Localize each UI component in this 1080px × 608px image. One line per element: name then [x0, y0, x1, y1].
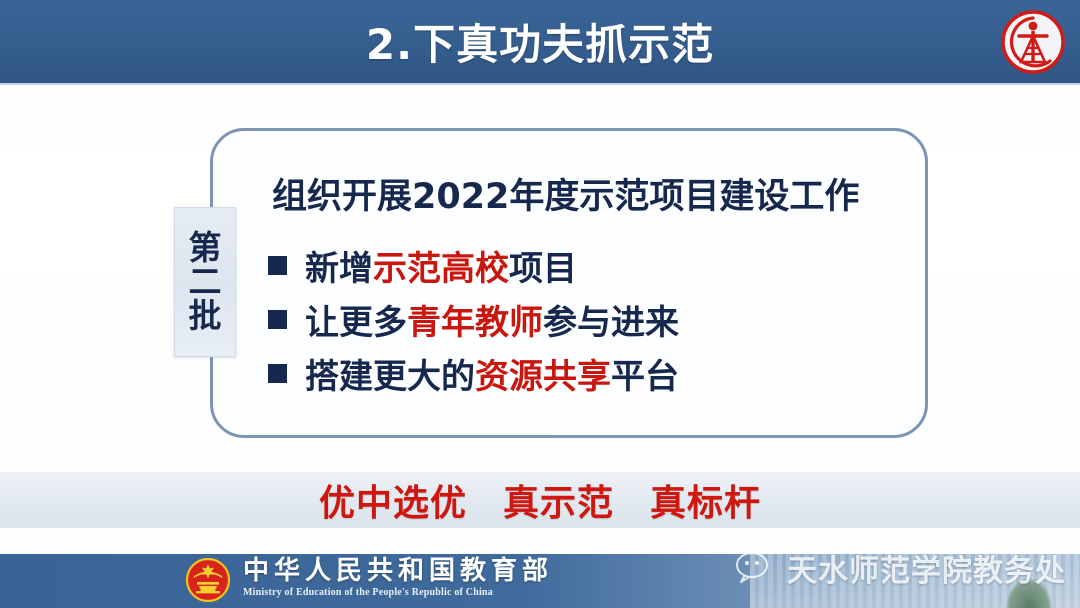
page-title: 2.下真功夫抓示范	[0, 0, 1080, 82]
square-bullet-icon	[268, 310, 287, 329]
batch-char-3: 批	[189, 299, 222, 333]
slogan-item-1: 优中选优	[319, 474, 467, 526]
bullet-highlight-3: 资源共享	[475, 357, 611, 397]
slide-header: 2.下真功夫抓示范	[0, 0, 1080, 85]
ministry-label: 中华人民共和国教育部 Ministry of Education of the …	[243, 558, 553, 598]
slogan-text-group: 优中选优 真示范 真标杆	[0, 472, 1080, 528]
red-circular-tower-logo	[1000, 9, 1066, 75]
bullet-pre-1: 新增	[305, 249, 373, 289]
presentation-slide: 2.下真功夫抓示范 第 二 批 组织开展2022年度示范项目建设工作 新增示范高…	[0, 0, 1080, 608]
batch-char-1: 第	[189, 231, 222, 265]
list-item: 新增示范高校项目	[268, 238, 908, 292]
batch-char-2: 二	[189, 265, 222, 299]
square-bullet-icon	[268, 364, 287, 383]
bullet-text-3: 搭建更大的资源共享平台	[305, 349, 679, 398]
slogan-item-2: 真示范	[503, 474, 614, 526]
wechat-icon	[736, 552, 778, 585]
ministry-name-en: Ministry of Education of the People's Re…	[243, 587, 553, 598]
watermark: 天水师范学院教务处	[736, 546, 1066, 590]
bullet-post-3: 平台	[611, 357, 679, 397]
bullet-post-1: 项目	[509, 249, 577, 289]
batch-label-tab: 第 二 批	[174, 207, 236, 357]
bullet-highlight-1: 示范高校	[373, 249, 509, 289]
list-item: 搭建更大的资源共享平台	[268, 346, 908, 400]
bullet-pre-3: 搭建更大的	[305, 357, 475, 397]
ministry-name-cn: 中华人民共和国教育部	[243, 558, 553, 585]
bullet-text-2: 让更多青年教师参与进来	[305, 295, 679, 344]
slogan-item-3: 真标杆	[650, 474, 761, 526]
bullet-pre-2: 让更多	[305, 303, 407, 343]
bullet-list: 新增示范高校项目 让更多青年教师参与进来 搭建更大的资源共享平台	[268, 238, 908, 400]
watermark-text: 天水师范学院教务处	[787, 546, 1066, 590]
bullet-highlight-2: 青年教师	[407, 303, 543, 343]
list-item: 让更多青年教师参与进来	[268, 292, 908, 346]
china-national-emblem	[185, 557, 231, 603]
bullet-post-2: 参与进来	[543, 303, 679, 343]
bullet-text-1: 新增示范高校项目	[305, 241, 577, 290]
square-bullet-icon	[268, 256, 287, 275]
panel-heading: 组织开展2022年度示范项目建设工作	[272, 168, 859, 219]
